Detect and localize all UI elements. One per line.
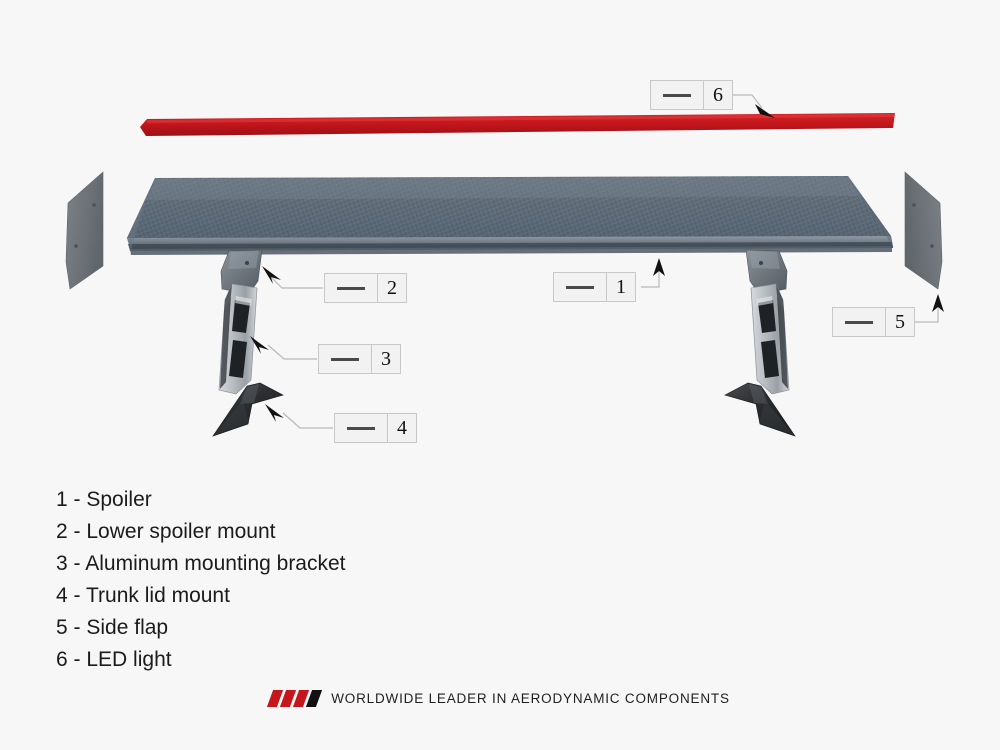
callout-box-6[interactable]: 6 xyxy=(650,80,733,110)
legend-number-2: 2 xyxy=(56,520,68,543)
callout-box-4[interactable]: 4 xyxy=(334,413,417,443)
part-side-flap-left xyxy=(66,172,103,289)
callout-arrow-heads xyxy=(250,104,944,422)
part-group-right-mounts xyxy=(725,250,795,436)
legend-number-3: 3 xyxy=(56,552,68,575)
legend-separator-5: - xyxy=(74,616,81,639)
callout-number-1: 1 xyxy=(607,273,635,301)
callout-dash-6 xyxy=(651,81,704,109)
legend-item-4: 4 - Trunk lid mount xyxy=(56,580,346,612)
legend-separator-6: - xyxy=(74,648,81,671)
legend-label-3: Aluminum mounting bracket xyxy=(85,552,345,575)
arrow-head-4 xyxy=(265,404,284,422)
callout-number-5: 5 xyxy=(886,308,914,336)
legend-item-5: 5 - Side flap xyxy=(56,612,346,644)
footer-banner: WORLDWIDE LEADER IN AERODYNAMIC COMPONEN… xyxy=(0,690,1000,707)
legend-label-6: LED light xyxy=(86,648,171,671)
callout-dash-3 xyxy=(319,345,372,373)
callout-dash-2 xyxy=(325,274,378,302)
callout-box-1[interactable]: 1 xyxy=(553,272,636,302)
leader-line-3 xyxy=(268,345,317,359)
legend-separator-4: - xyxy=(74,584,81,607)
legend-label-4: Trunk lid mount xyxy=(86,584,230,607)
logo-bar-4 xyxy=(306,690,322,707)
legend-label-2: Lower spoiler mount xyxy=(86,520,275,543)
footer-tagline: WORLDWIDE LEADER IN AERODYNAMIC COMPONEN… xyxy=(331,691,730,706)
legend-separator-3: - xyxy=(74,552,81,575)
legend-item-1: 1 - Spoiler xyxy=(56,484,346,516)
diagram-page: 6 1 2 3 4 5 1 - Spoiler 2 - Lower spoile… xyxy=(0,0,1000,750)
parts-legend: 1 - Spoiler 2 - Lower spoiler mount 3 - … xyxy=(56,484,346,676)
callout-number-6: 6 xyxy=(704,81,732,109)
callout-box-2[interactable]: 2 xyxy=(324,273,407,303)
brand-logo-icon xyxy=(270,690,319,707)
callout-dash-5 xyxy=(833,308,886,336)
callout-number-4: 4 xyxy=(388,414,416,442)
callout-box-3[interactable]: 3 xyxy=(318,344,401,374)
legend-number-4: 4 xyxy=(56,584,68,607)
legend-number-6: 6 xyxy=(56,648,68,671)
part-spoiler-wing xyxy=(127,176,893,255)
legend-item-3: 3 - Aluminum mounting bracket xyxy=(56,548,346,580)
legend-label-1: Spoiler xyxy=(86,488,151,511)
callout-box-5[interactable]: 5 xyxy=(832,307,915,337)
leader-line-5 xyxy=(913,302,938,322)
part-aluminum-bracket-left xyxy=(219,284,257,394)
part-aluminum-bracket-right xyxy=(751,284,789,394)
legend-separator-1: - xyxy=(74,488,81,511)
legend-separator-2: - xyxy=(74,520,81,543)
legend-number-5: 5 xyxy=(56,616,68,639)
callout-number-3: 3 xyxy=(372,345,400,373)
legend-number-1: 1 xyxy=(56,488,68,511)
callout-number-2: 2 xyxy=(378,274,406,302)
legend-item-6: 6 - LED light xyxy=(56,644,346,676)
leader-line-2 xyxy=(268,274,323,288)
part-side-flap-right xyxy=(905,172,942,289)
part-led-light xyxy=(140,113,895,136)
callout-dash-1 xyxy=(554,273,607,301)
legend-item-2: 2 - Lower spoiler mount xyxy=(56,516,346,548)
legend-label-5: Side flap xyxy=(86,616,168,639)
leader-line-4 xyxy=(283,413,333,428)
callout-dash-4 xyxy=(335,414,388,442)
callout-leader-lines xyxy=(268,95,938,428)
arrow-head-2 xyxy=(262,266,281,284)
